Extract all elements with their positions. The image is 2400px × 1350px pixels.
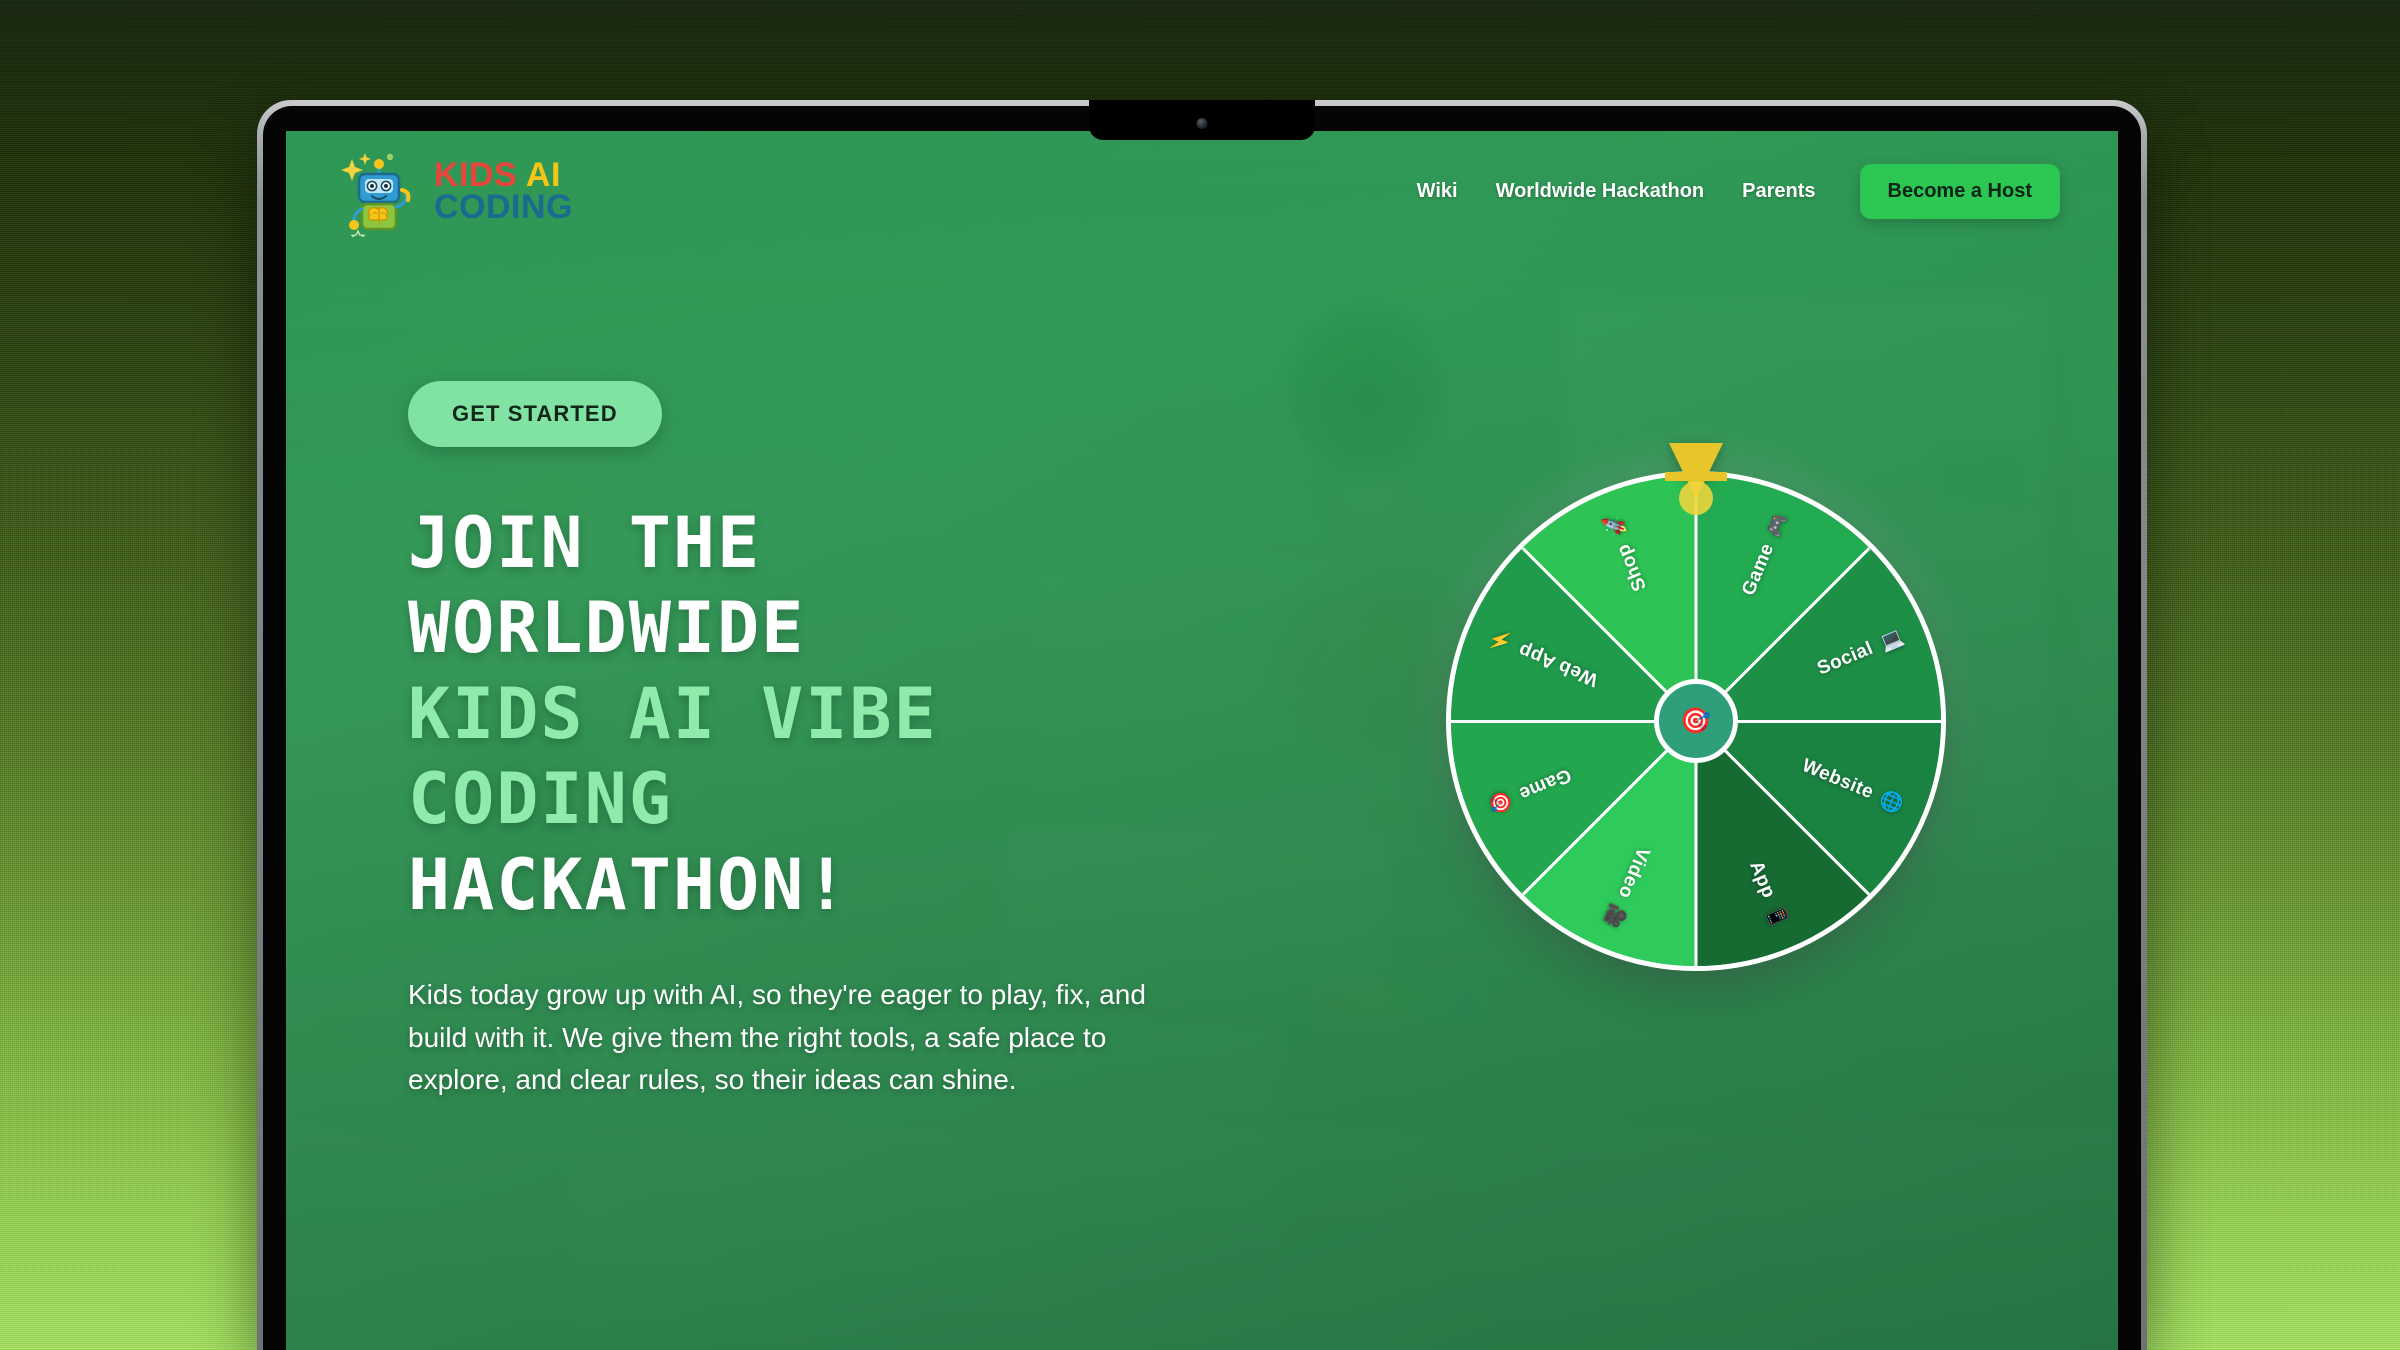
- become-a-host-button[interactable]: Become a Host: [1860, 164, 2061, 219]
- prize-wheel[interactable]: 🎯 Game🎮Social💻Website🌐App📱Video🎥Game🎯Web…: [1446, 471, 1946, 971]
- main-navigation: Wiki Worldwide Hackathon Parents Become …: [1409, 164, 2060, 219]
- nav-link-wiki[interactable]: Wiki: [1409, 174, 1466, 209]
- webcam-notch: [1089, 100, 1315, 140]
- logo-line-one: KIDS AI: [434, 159, 573, 191]
- nav-link-parents[interactable]: Parents: [1734, 174, 1823, 209]
- target-dart-icon: 🎯: [1680, 707, 1711, 736]
- site-logo[interactable]: KIDS AI CODING: [338, 145, 573, 237]
- wheel-hub[interactable]: 🎯: [1654, 679, 1738, 763]
- get-started-button[interactable]: GET STARTED: [408, 381, 662, 447]
- logo-wordmark: KIDS AI CODING: [434, 159, 573, 224]
- headline-line-2: WORLDWIDE: [408, 586, 1288, 671]
- logo-coding-text: CODING: [434, 191, 573, 223]
- page-title: JOIN THE WORLDWIDE KIDS AI VIBE CODING H…: [408, 501, 1288, 928]
- headline-line-5: HACKATHON!: [408, 843, 1288, 928]
- robot-mascot-icon: [338, 145, 420, 237]
- pointer-bar: [1665, 472, 1727, 481]
- webcam-icon: [1197, 118, 1208, 129]
- hero-content: GET STARTED JOIN THE WORLDWIDE KIDS AI V…: [408, 381, 1288, 1102]
- laptop-device: KIDS AI CODING Wiki Worldwide Hackathon …: [257, 100, 2147, 1350]
- browser-screen: KIDS AI CODING Wiki Worldwide Hackathon …: [286, 131, 2118, 1350]
- nav-link-worldwide-hackathon[interactable]: Worldwide Hackathon: [1488, 174, 1713, 209]
- site-header: KIDS AI CODING Wiki Worldwide Hackathon …: [286, 131, 2118, 251]
- wheel-pointer-triangle: [1669, 443, 1723, 513]
- headline-line-4: CODING: [408, 757, 1288, 842]
- hero-paragraph: Kids today grow up with AI, so they're e…: [408, 974, 1208, 1102]
- pointer-knob: [1679, 481, 1713, 515]
- headline-line-1: JOIN THE: [408, 501, 1288, 586]
- headline-line-3: KIDS AI VIBE: [408, 672, 1288, 757]
